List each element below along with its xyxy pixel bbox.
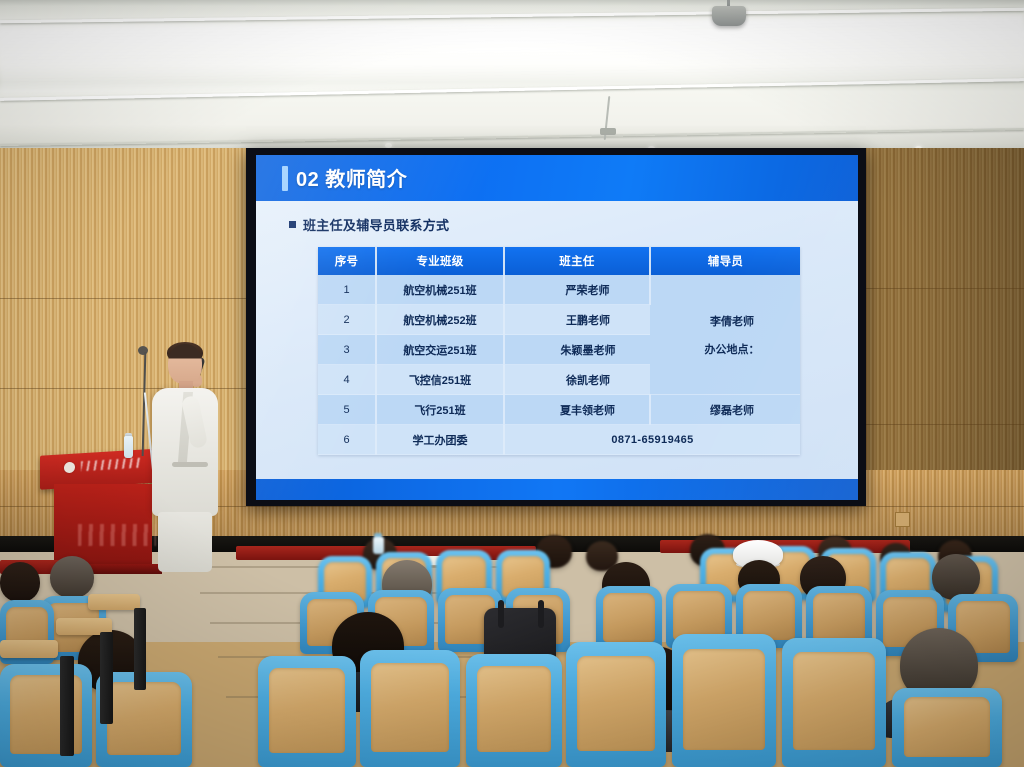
lectern-podium (40, 452, 164, 570)
slide-body: 班主任及辅导员联系方式 序号 专业班级 班主任 辅导员 1 (256, 201, 858, 479)
auditorium-seat[interactable] (892, 688, 1002, 767)
microphone-head-icon (138, 346, 148, 355)
cell-class: 航空交运251班 (376, 335, 504, 365)
audience-head (50, 556, 94, 598)
counselor-office-label: 办公地点： (705, 344, 760, 356)
cell-counselor: 缪磊老师 (650, 395, 800, 425)
cell-class: 航空机械252班 (376, 305, 504, 335)
slide-footer-band (256, 479, 858, 500)
presenter-skirt (158, 512, 212, 572)
table-header-row: 序号 专业班级 班主任 辅导员 (318, 247, 800, 275)
cell-class: 航空机械251班 (376, 275, 504, 305)
ceiling-projector (712, 6, 746, 26)
water-bottle-podium (124, 436, 133, 458)
cell-teacher: 徐凯老师 (504, 365, 650, 395)
square-bullet-icon (289, 221, 296, 228)
lectern-engraving (78, 524, 156, 546)
cell-phone: 0871-65919465 (504, 425, 800, 455)
presenter-head (168, 344, 202, 384)
seat-leg (60, 656, 74, 756)
wall-panel-seam (862, 288, 1024, 289)
cell-teacher: 严荣老师 (504, 275, 650, 305)
wall-panel-seam (862, 424, 1024, 425)
cell-counselor-merged: 李倩老师 办公地点： (650, 275, 800, 395)
lecture-hall-photo: 02 教师简介 班主任及辅导员联系方式 序号 专业班级 班主任 辅导员 (0, 0, 1024, 767)
university-name-script (81, 458, 141, 472)
auditorium-seat[interactable] (258, 656, 356, 767)
cell-class: 学工办团委 (376, 425, 504, 455)
audience-head (0, 562, 40, 602)
wall-panel-seam (0, 298, 250, 299)
cell-teacher: 朱颖墨老师 (504, 335, 650, 365)
table-row: 6 学工办团委 0871-65919465 (318, 425, 800, 455)
col-header-teacher: 班主任 (504, 247, 650, 275)
cell-index: 1 (318, 275, 376, 305)
presenter (150, 344, 220, 569)
slide-title-bar: 02 教师简介 (256, 155, 858, 201)
auditorium-seat[interactable] (466, 654, 562, 767)
slide-title: 02 教师简介 (296, 163, 407, 192)
cell-index: 6 (318, 425, 376, 455)
cell-teacher: 王鹏老师 (504, 305, 650, 335)
auditorium-seat[interactable] (596, 586, 662, 650)
col-header-index: 序号 (318, 247, 376, 275)
table-row: 1 航空机械251班 严荣老师 李倩老师 办公地点： (318, 275, 800, 305)
slide-bullet-heading: 班主任及辅导员联系方式 (289, 215, 449, 234)
auditorium-seat[interactable] (782, 638, 886, 767)
table-row: 5 飞行251班 夏丰领老师 缪磊老师 (318, 395, 800, 425)
wall-outlet (895, 512, 910, 527)
university-emblem-icon (64, 462, 75, 474)
seat-leg (134, 608, 146, 690)
backpack-strap (538, 600, 544, 628)
cell-index: 3 (318, 335, 376, 365)
auditorium-seat[interactable] (360, 650, 460, 767)
backpack-strap (498, 600, 504, 628)
col-header-counselor: 辅导员 (650, 247, 800, 275)
counselor-name: 李倩老师 (665, 313, 799, 329)
cell-class: 飞行251班 (376, 395, 504, 425)
projection-screen: 02 教师简介 班主任及辅导员联系方式 序号 专业班级 班主任 辅导员 (256, 155, 858, 500)
bullet-heading-text: 班主任及辅导员联系方式 (303, 215, 449, 234)
auditorium-seat[interactable] (0, 664, 92, 767)
auditorium-seat[interactable] (566, 642, 666, 767)
cell-teacher: 夏丰领老师 (504, 395, 650, 425)
presenter-belt (172, 462, 208, 467)
seat-armrest (88, 594, 140, 610)
title-accent-bar (282, 166, 288, 191)
cell-index: 2 (318, 305, 376, 335)
ceiling-cable-anchor (600, 128, 616, 135)
auditorium-seat[interactable] (672, 634, 776, 767)
cell-class: 飞控信251班 (376, 365, 504, 395)
cell-index: 5 (318, 395, 376, 425)
col-header-class: 专业班级 (376, 247, 504, 275)
seat-armrest (0, 640, 58, 658)
contact-table: 序号 专业班级 班主任 辅导员 1 航空机械251班 严荣老师 李倩老师 办公地… (318, 247, 800, 455)
seat-leg (100, 632, 113, 724)
cell-index: 4 (318, 365, 376, 395)
